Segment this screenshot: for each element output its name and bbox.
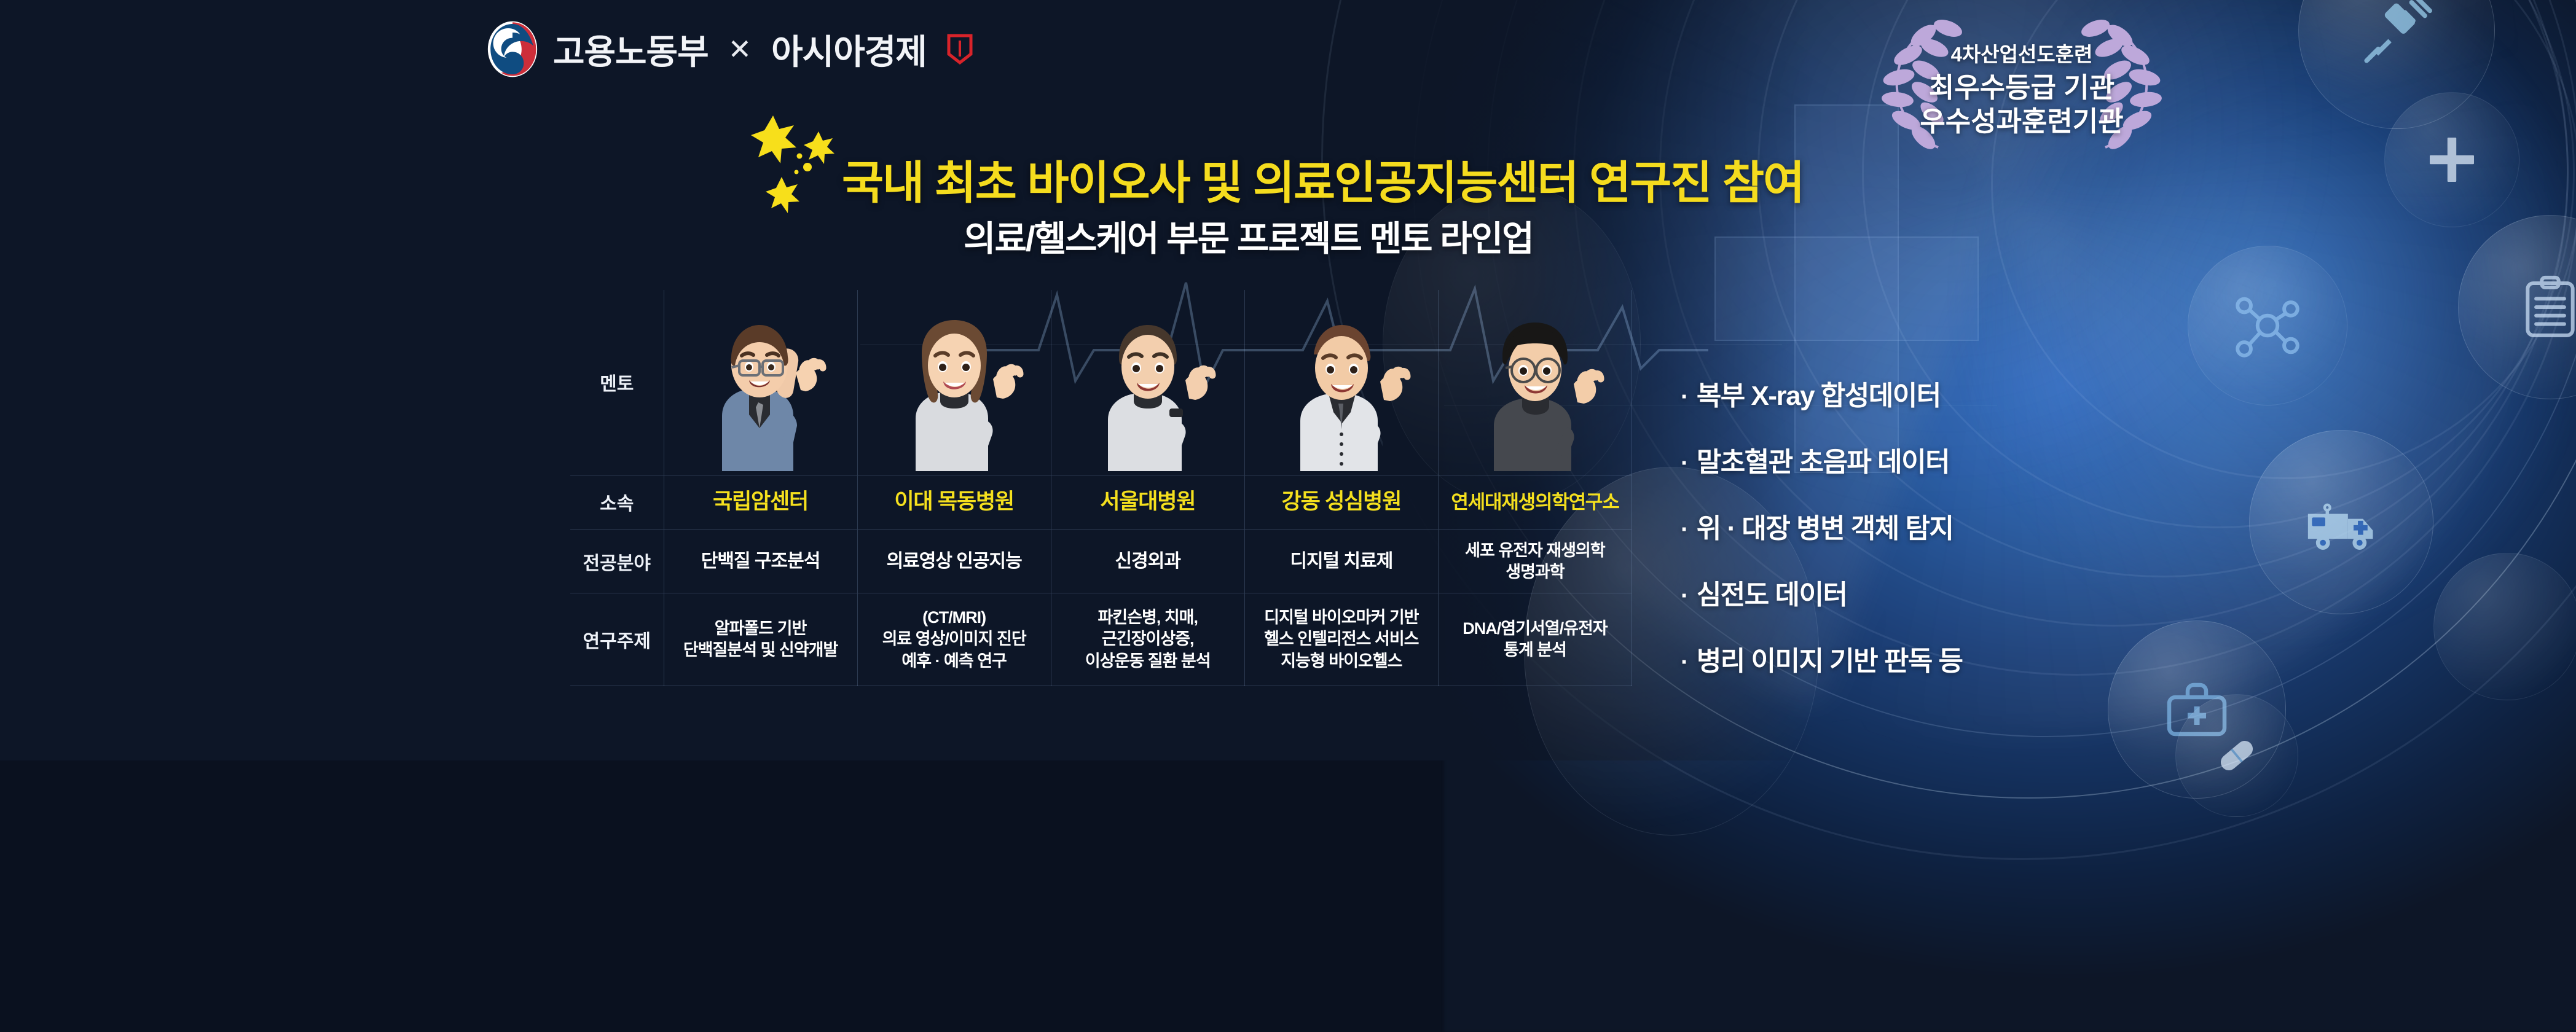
page-title: 국내 최초 바이오사 및 의료인공지능센터 연구진 참여	[842, 146, 1804, 212]
topic-line: 지능형 바이오헬스	[1249, 651, 1434, 673]
list-item-label: 말초혈관 초음파 데이터	[1697, 440, 1949, 479]
bullet-marker: ·	[1681, 385, 1688, 409]
memoji-avatar-glasses-blazer-icon	[690, 305, 831, 471]
bullet-marker: ·	[1681, 584, 1688, 608]
topic-line: 파킨슨병, 치매,	[1055, 607, 1241, 629]
field-cell-4-line-1: 생명과학	[1442, 561, 1628, 583]
table-row-field: 전공분야 단백질 구조분석 의료영상 인공지능 신경외과 디지털 치료제 세포 …	[570, 529, 1632, 593]
list-item-label: 복부 X-ray 합성데이터	[1697, 373, 1941, 413]
org-cell-3: 강동 성심병원	[1244, 475, 1438, 529]
plus-icon	[2422, 130, 2481, 189]
topic-line: (CT/MRI)	[862, 607, 1047, 629]
list-item: · 심전도 데이터	[1681, 573, 1963, 612]
topic-cell-3: 디지털 바이오마커 기반 헬스 인텔리전스 서비스 지능형 바이오헬스	[1244, 593, 1438, 686]
data-type-list: · 복부 X-ray 합성데이터 · 말초혈관 초음파 데이터 · 위 · 대장…	[1681, 373, 1963, 705]
topic-cell-0: 알파폴드 기반 단백질분석 및 신약개발	[664, 593, 857, 686]
asiae-quote-mark-icon	[946, 33, 973, 65]
partner-name: 아시아경제	[771, 25, 927, 74]
row-label-field: 전공분야	[570, 529, 664, 593]
topic-line: 근긴장이상증,	[1055, 628, 1241, 651]
topic-line: 통계 분석	[1442, 639, 1628, 662]
memoji-avatar-spiky-hair-hoodie-icon	[1271, 305, 1412, 471]
topic-line: DNA/염기서열/유전자	[1442, 618, 1628, 640]
topic-line: 예후 · 예측 연구	[862, 651, 1047, 673]
memoji-avatar-long-hair-grey-top-icon	[884, 305, 1025, 471]
page-subtitle: 의료/헬스케어 부문 프로젝트 멘토 라인업	[964, 211, 1533, 261]
org-cell-2: 서울대병원	[1051, 475, 1244, 529]
table-row-topic: 연구주제 알파폴드 기반 단백질분석 및 신약개발 (CT/MRI) 의료 영상…	[570, 593, 1632, 686]
row-label-topic: 연구주제	[570, 593, 664, 686]
topic-line: 헬스 인텔리전스 서비스	[1249, 628, 1434, 651]
table-row-organization: 소속 국립암센터 이대 목동병원 서울대병원 강동 성심병원 연세대재생의학연구…	[570, 475, 1632, 529]
topic-line: 단백질분석 및 신약개발	[668, 639, 854, 662]
ambulance-icon	[2301, 482, 2381, 562]
org-cell-1: 이대 목동병원	[857, 475, 1051, 529]
badge-line-1: 4차산업선도훈련	[1862, 38, 2181, 68]
topic-cell-1: (CT/MRI) 의료 영상/이미지 진단 예후 · 예측 연구	[857, 593, 1051, 686]
topic-line: 이상운동 질환 분석	[1055, 651, 1241, 673]
mentor-avatar-cell-2	[1051, 290, 1244, 475]
list-item: · 말초혈관 초음파 데이터	[1681, 440, 1963, 479]
bullet-marker: ·	[1681, 650, 1688, 674]
list-item: · 병리 이미지 기반 판독 등	[1681, 639, 1963, 678]
badge-line-3: 우수성과훈련기관	[1862, 99, 2181, 139]
org-cell-4: 연세대재생의학연구소	[1438, 475, 1632, 529]
list-item-label: 심전도 데이터	[1697, 573, 1847, 612]
mentor-avatar-cell-4	[1438, 290, 1632, 475]
bullet-marker: ·	[1681, 517, 1688, 542]
table-row-mentor: 멘토	[570, 290, 1632, 475]
memoji-avatar-short-hair-grey-top-icon	[1077, 305, 1219, 471]
award-badge: 4차산업선도훈련 최우수등급 기관 우수성과훈련기관	[1862, 10, 2181, 151]
korea-government-symbol-icon	[485, 20, 540, 79]
row-label-organization: 소속	[570, 475, 664, 529]
field-cell-4: 세포 유전자 재생의학 생명과학	[1438, 529, 1632, 593]
header-logo-bar: 고용노동부 ✕ 아시아경제	[485, 20, 973, 79]
molecule-icon	[2228, 286, 2307, 365]
list-item-label: 위 · 대장 병변 객체 탐지	[1697, 506, 1954, 545]
topic-cell-4: DNA/염기서열/유전자 통계 분석	[1438, 593, 1632, 686]
syringe-icon	[2357, 0, 2437, 71]
org-cell-0: 국립암센터	[664, 475, 857, 529]
topic-line: 디지털 바이오마커 기반	[1249, 607, 1434, 629]
mentor-avatar-cell-0	[664, 290, 857, 475]
x-separator-icon: ✕	[728, 33, 752, 66]
list-item: · 복부 X-ray 합성데이터	[1681, 373, 1963, 413]
topic-line: 알파폴드 기반	[668, 618, 854, 640]
bubble-pill	[2175, 694, 2298, 817]
field-cell-1: 의료영상 인공지능	[857, 529, 1051, 593]
mentor-avatar-cell-3	[1244, 290, 1438, 475]
row-label-mentor: 멘토	[570, 290, 664, 475]
bubble-small-right	[2433, 553, 2576, 700]
mentor-avatar-cell-1	[857, 290, 1051, 475]
topic-line: 의료 영상/이미지 진단	[862, 628, 1047, 651]
bubble-molecule	[2188, 246, 2347, 405]
bullet-marker: ·	[1681, 451, 1688, 475]
pill-icon	[2209, 728, 2264, 783]
list-item: · 위 · 대장 병변 객체 탐지	[1681, 506, 1963, 545]
clipboard-icon	[2516, 273, 2576, 341]
field-cell-3: 디지털 치료제	[1244, 529, 1438, 593]
mentor-table: 멘토	[570, 290, 1632, 686]
field-cell-4-line-0: 세포 유전자 재생의학	[1442, 540, 1628, 561]
list-item-label: 병리 이미지 기반 판독 등	[1697, 639, 1963, 678]
ministry-name: 고용노동부	[553, 25, 709, 74]
bubble-plus	[2384, 92, 2519, 227]
memoji-avatar-round-glasses-dark-tee-icon	[1464, 305, 1606, 471]
bubble-ambulance	[2249, 430, 2433, 614]
topic-cell-2: 파킨슨병, 치매, 근긴장이상증, 이상운동 질환 분석	[1051, 593, 1244, 686]
field-cell-0: 단백질 구조분석	[664, 529, 857, 593]
field-cell-2: 신경외과	[1051, 529, 1244, 593]
